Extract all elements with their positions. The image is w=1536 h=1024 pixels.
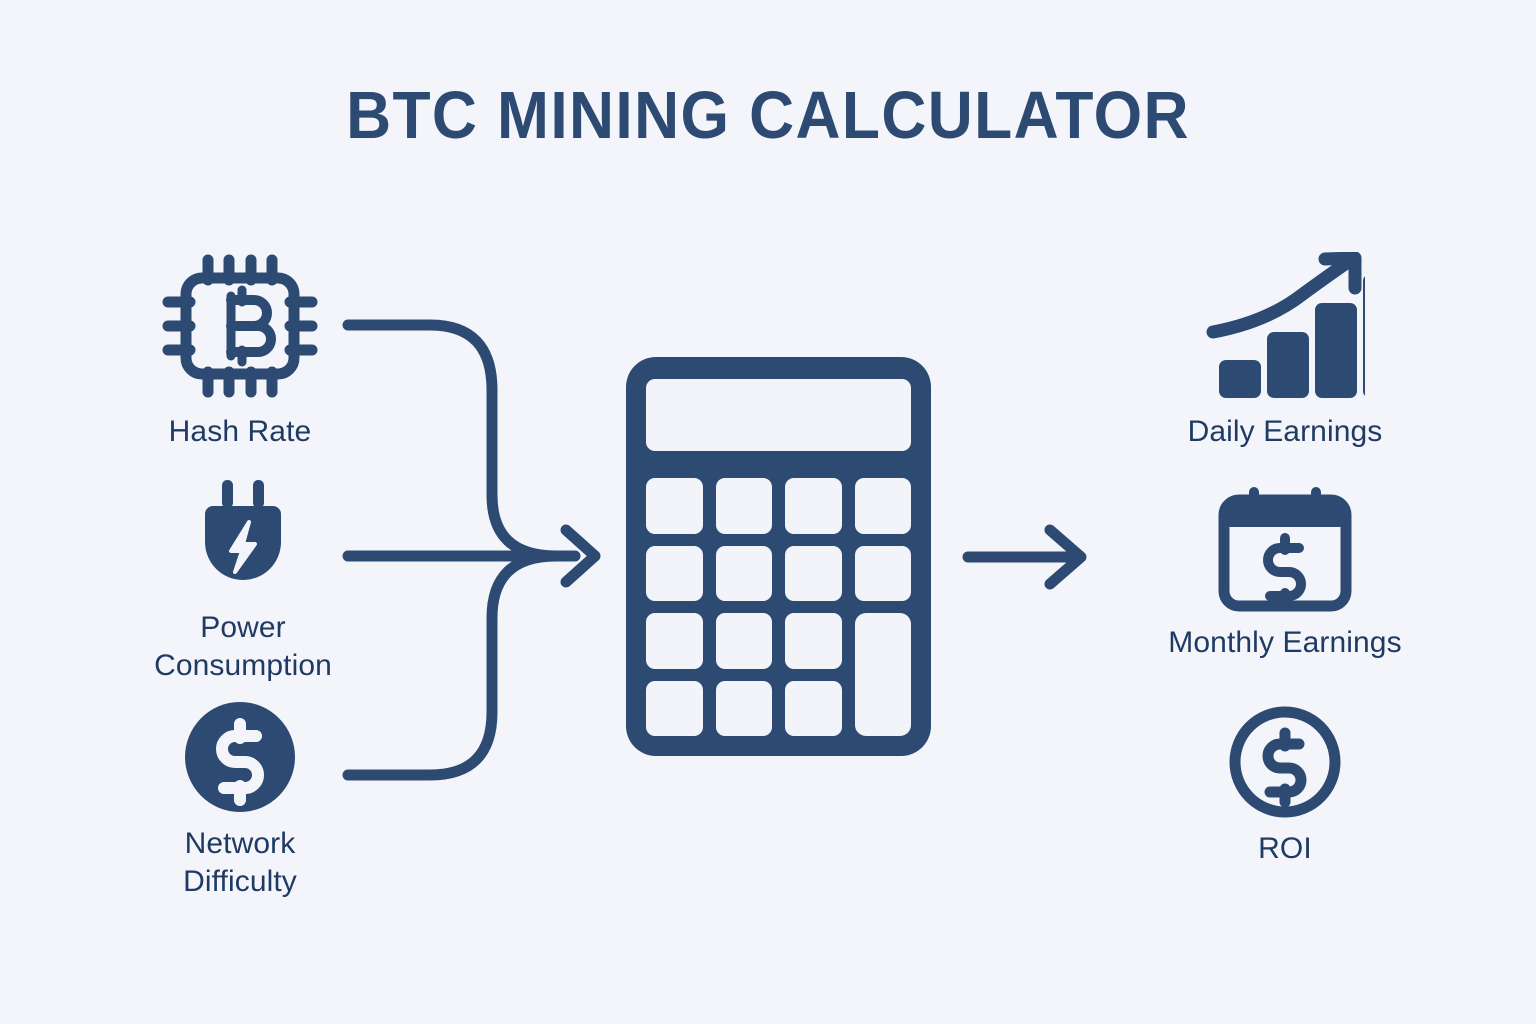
calculator-keypad: [646, 478, 911, 736]
input-node-hash-rate[interactable]: Hash Rate: [90, 250, 390, 451]
output-label-monthly-earnings: Monthly Earnings: [1168, 624, 1401, 662]
calculator-key[interactable]: [855, 478, 912, 534]
icon-container: [160, 250, 320, 402]
calculator-key[interactable]: [716, 478, 773, 534]
calculator-key[interactable]: [785, 546, 842, 602]
cpu-bitcoin-icon: [160, 250, 320, 402]
input-node-network-difficulty[interactable]: Network Difficulty: [90, 700, 390, 901]
icon-container: [1228, 705, 1342, 819]
calculator-key[interactable]: [855, 546, 912, 602]
merge-arrowhead: [566, 530, 595, 582]
calculator-icon[interactable]: [626, 357, 931, 756]
power-plug-bolt-icon: [183, 478, 303, 598]
calculator-display: [646, 379, 911, 451]
calculator-key[interactable]: [646, 478, 703, 534]
input-label-network-difficulty: Network Difficulty: [183, 825, 297, 901]
page-title: BTC MINING CALCULATOR: [54, 82, 1482, 149]
input-label-hash-rate: Hash Rate: [169, 413, 312, 451]
calendar-dollar-icon: [1215, 485, 1355, 613]
icon-container: [183, 700, 297, 814]
dollar-circle-filled-icon: [183, 700, 297, 814]
calculator-key[interactable]: [716, 681, 773, 737]
calculator-key[interactable]: [716, 546, 773, 602]
output-label-daily-earnings: Daily Earnings: [1188, 413, 1383, 451]
bar-2: [1267, 332, 1309, 398]
bar-4: [1363, 274, 1365, 398]
calculator-key[interactable]: [785, 681, 842, 737]
bar-3: [1315, 303, 1357, 398]
icon-container: [1205, 252, 1365, 402]
dollar-circle-outline-icon: [1228, 705, 1342, 819]
calculator-key[interactable]: [646, 681, 703, 737]
calculator-key[interactable]: [646, 613, 703, 669]
diagram-canvas: BTC MINING CALCULATOR: [0, 0, 1536, 1024]
input-node-power-consumption[interactable]: Power Consumption: [93, 478, 393, 685]
calculator-key[interactable]: [646, 546, 703, 602]
output-node-monthly-earnings[interactable]: Monthly Earnings: [1135, 485, 1435, 662]
bar-chart-growth-icon: [1205, 252, 1365, 402]
output-arrow: [968, 530, 1081, 584]
output-label-roi: ROI: [1258, 830, 1312, 868]
calculator-key[interactable]: [716, 613, 773, 669]
icon-container: [183, 478, 303, 598]
calculator-key-equals[interactable]: [855, 613, 912, 736]
calculator-key[interactable]: [785, 613, 842, 669]
input-label-power-consumption: Power Consumption: [154, 609, 332, 685]
output-node-daily-earnings[interactable]: Daily Earnings: [1135, 252, 1435, 451]
calculator-key[interactable]: [785, 478, 842, 534]
icon-container: [1215, 485, 1355, 613]
output-node-roi[interactable]: ROI: [1135, 705, 1435, 868]
bar-1: [1219, 360, 1261, 398]
